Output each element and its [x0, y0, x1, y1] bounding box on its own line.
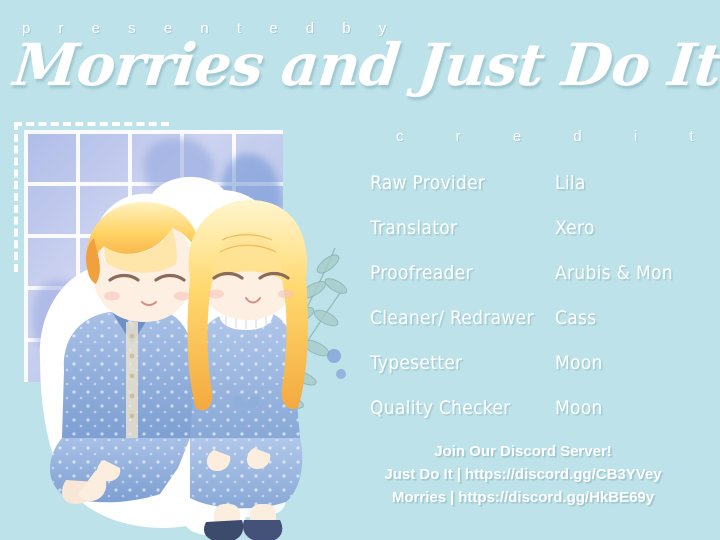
credit-person-value: Xero [555, 217, 700, 239]
discord-separator: | [446, 489, 458, 506]
credit-role-label: Proofreader [370, 262, 555, 284]
credit-person-value: Arubis & Mon [555, 262, 700, 284]
credit-role-label: Cleaner/ Redrawer [370, 307, 555, 329]
discord-footer: Join Our Discord Server! Just Do It|http… [330, 440, 716, 509]
studio-title: Morries and Just Do It [11, 36, 720, 94]
credits-table: Raw Provider Lila Translator Xero Proofr… [370, 172, 700, 442]
illustration [0, 108, 340, 540]
credit-role-label: Typesetter [370, 352, 555, 374]
credit-row: Translator Xero [370, 217, 700, 262]
credit-row: Quality Checker Moon [370, 397, 700, 442]
credit-role-label: Quality Checker [370, 397, 555, 419]
credit-row: Typesetter Moon [370, 352, 700, 397]
discord-server-name: Just Do It [384, 466, 452, 483]
character-illustration [0, 108, 340, 540]
credits-heading: c r e d i t s [396, 128, 720, 145]
discord-separator: | [453, 466, 465, 483]
credit-row: Raw Provider Lila [370, 172, 700, 217]
discord-server-link[interactable]: https://discord.gg/CB3YVey [465, 466, 662, 483]
credit-person-value: Lila [555, 172, 700, 194]
credits-page: p r e s e n t e d b y Morries and Just D… [0, 0, 720, 540]
discord-server-name: Morries [392, 489, 446, 506]
credit-role-label: Raw Provider [370, 172, 555, 194]
credit-person-value: Cass [555, 307, 700, 329]
credit-role-label: Translator [370, 217, 555, 239]
credit-person-value: Moon [555, 397, 700, 419]
credit-row: Proofreader Arubis & Mon [370, 262, 700, 307]
discord-server-row: Morries|https://discord.gg/HkBE69y [330, 486, 716, 509]
credit-row: Cleaner/ Redrawer Cass [370, 307, 700, 352]
discord-heading: Join Our Discord Server! [330, 440, 716, 463]
credit-person-value: Moon [555, 352, 700, 374]
discord-server-link[interactable]: https://discord.gg/HkBE69y [458, 489, 654, 506]
discord-server-row: Just Do It|https://discord.gg/CB3YVey [330, 463, 716, 486]
